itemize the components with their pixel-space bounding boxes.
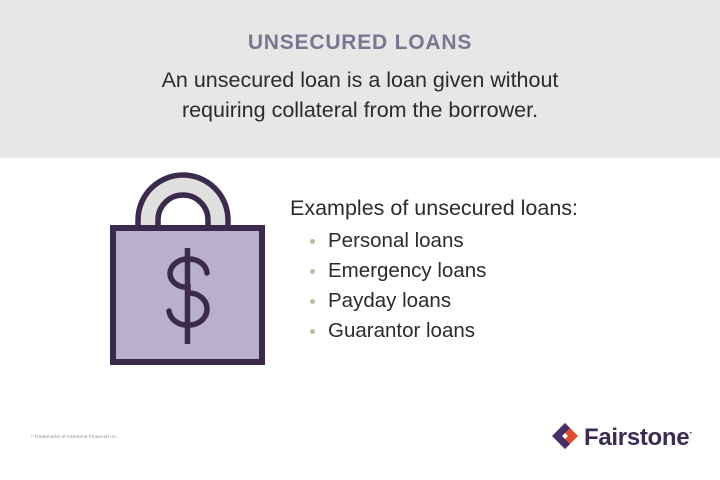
list-item-label: Payday loans (328, 289, 451, 312)
list-item: Emergency loans (310, 256, 690, 286)
list-item: Payday loans (310, 286, 690, 316)
list-item-label: Emergency loans (328, 259, 486, 282)
list-item-label: Guarantor loans (328, 319, 475, 342)
bullet-dot-icon (310, 239, 315, 244)
logo-mark-purple (552, 423, 570, 449)
infographic-canvas: UNSECURED LOANS An unsecured loan is a l… (0, 0, 720, 480)
examples-list: Personal loans Emergency loans Payday lo… (290, 226, 690, 346)
bullet-dot-icon (310, 269, 315, 274)
bullet-dot-icon (310, 299, 315, 304)
padlock-svg (100, 145, 280, 375)
header-band: UNSECURED LOANS An unsecured loan is a l… (0, 0, 720, 158)
trademark-note: * Trademarks of Fairstone Financial Inc. (31, 434, 118, 439)
page-title: UNSECURED LOANS (0, 30, 720, 56)
fairstone-diamond-icon (551, 422, 579, 450)
fairstone-logo: Fairstone· (551, 419, 691, 453)
page-subtitle: An unsecured loan is a loan given withou… (0, 65, 720, 125)
fairstone-trademark-symbol: · (689, 428, 692, 439)
bullet-dot-icon (310, 329, 315, 334)
fairstone-brand-name: Fairstone (584, 424, 689, 451)
list-item-label: Personal loans (328, 229, 464, 252)
page-subtitle-line-2: requiring collateral from the borrower. (0, 95, 720, 125)
list-item: Personal loans (310, 226, 690, 256)
open-padlock-icon (100, 145, 280, 375)
fairstone-wordmark: Fairstone· (584, 422, 692, 450)
examples-section: Examples of unsecured loans: Personal lo… (290, 194, 690, 346)
list-item: Guarantor loans (310, 316, 690, 346)
page-subtitle-line-1: An unsecured loan is a loan given withou… (0, 65, 720, 95)
examples-heading: Examples of unsecured loans: (290, 194, 690, 222)
